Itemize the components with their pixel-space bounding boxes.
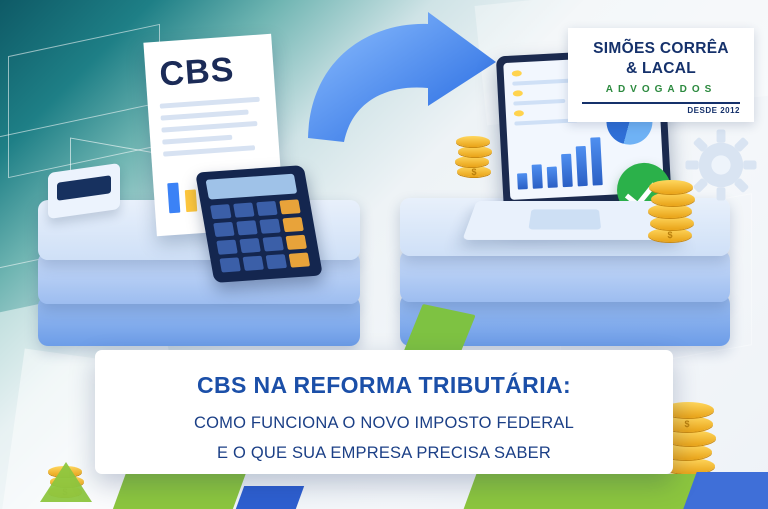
logo-subtitle: ADVOGADOS (568, 84, 754, 95)
coin-symbol: $ (471, 167, 476, 177)
banner-stage: CBS (0, 0, 768, 509)
calculator-keypad (210, 199, 310, 272)
logo-since: DESDE 2012 (687, 106, 740, 115)
printer-slot (57, 175, 111, 201)
brand-logo: SIMÕES CORRÊA & LACAL ADVOGADOS DESDE 20… (568, 28, 754, 122)
document-label: CBS (158, 50, 235, 94)
document-text-line (163, 145, 255, 156)
logo-line-1: SIMÕES CORRÊA (568, 40, 754, 58)
coin-symbol: $ (667, 230, 672, 240)
laptop-trackpad (528, 209, 601, 229)
logo-divider (582, 102, 740, 104)
green-bar-accent (113, 470, 247, 509)
laptop-icon (462, 201, 677, 240)
gear-icon (684, 128, 758, 202)
calculator-icon (195, 165, 323, 283)
calculator-display (206, 174, 298, 200)
blue-bar-accent (683, 472, 768, 509)
bar-chart-icon (515, 133, 603, 189)
document-text-line (161, 110, 249, 121)
document-text-line (160, 97, 260, 109)
coin-symbol: $ (684, 419, 689, 429)
logo-line-2: & LACAL (568, 60, 754, 78)
blue-bar-accent (236, 486, 304, 509)
document-text-line (161, 121, 257, 133)
subheadline-line-2: E O QUE SUA EMPRESA PRECISA SABER (95, 437, 673, 467)
headline: CBS NA REFORMA TRIBUTÁRIA: (95, 350, 673, 399)
arrow-right-icon (300, 10, 500, 150)
platform-layer-middle-right (400, 250, 730, 302)
green-triangle-accent (40, 462, 92, 502)
subheadline-line-1: COMO FUNCIONA O NOVO IMPOSTO FEDERAL (95, 399, 673, 437)
document-text-line (162, 135, 232, 145)
green-bar-accent (464, 474, 707, 509)
title-card: CBS NA REFORMA TRIBUTÁRIA: COMO FUNCIONA… (95, 350, 673, 474)
